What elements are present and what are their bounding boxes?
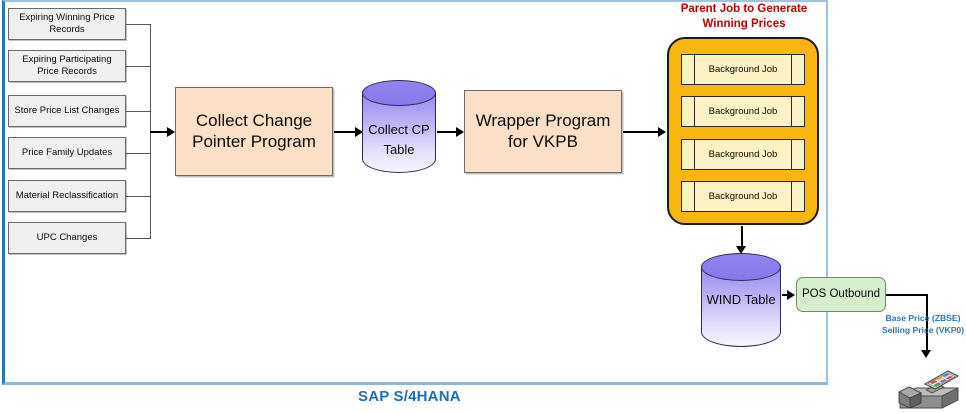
job-rail-right [791,181,792,212]
arrow-wrapper-to-parent-job [623,131,660,133]
parent-job-title-line1: Parent Job to Generate Winning Prices [664,2,824,32]
background-job-label: Background Job [695,182,791,211]
selling-price-label: Selling Price (VKP0) [879,325,966,337]
source-box-label: Store Price List Changes [14,105,119,117]
source-box-label: Price Family Updates [22,147,112,159]
process-pos-outbound[interactable]: POS Outbound [796,277,886,312]
background-job-label: Background Job [695,140,791,169]
pos-terminal-icon [896,366,962,411]
source-box-price-family-updates[interactable]: Price Family Updates [8,137,126,169]
datastore-label-line1: WIND Table [701,290,781,310]
sap-system-label: SAP S/4HANA [358,388,461,405]
datastore-collect-cp-table[interactable]: Collect CP Table [362,80,436,183]
arrow-collect-program-to-cp-table [334,131,356,133]
parent-job-title: Parent Job to Generate Winning Prices [664,2,824,32]
connector-source-2 [126,66,151,67]
source-box-label: Expiring Participating Price Records [12,54,122,77]
connector-source-6 [126,238,151,239]
datastore-label: Collect CP Table [362,120,436,160]
datastore-wind-table[interactable]: WIND Table [701,253,781,357]
arrowhead-bus-to-collect-program [167,127,175,137]
arrowhead-wrapper-to-parent-job [658,127,666,137]
source-box-expiring-winning-price-records[interactable]: Expiring Winning Price Records [8,8,126,40]
background-job-3[interactable]: Background Job [681,139,805,170]
base-price-label: Base Price (ZBSE) [879,313,966,325]
background-job-4[interactable]: Background Job [681,181,805,212]
background-job-1[interactable]: Background Job [681,54,805,85]
source-box-label: UPC Changes [37,232,98,244]
background-job-2[interactable]: Background Job [681,96,805,127]
process-label: POS Outbound [802,287,880,301]
source-box-label: Material Reclassification [16,190,118,202]
background-job-label: Background Job [695,55,791,84]
source-box-expiring-participating-price-records[interactable]: Expiring Participating Price Records [8,50,126,82]
source-box-upc-changes[interactable]: UPC Changes [8,222,126,254]
connector-source-1 [126,24,151,25]
job-rail-right [791,139,792,170]
connector-source-3 [126,111,151,112]
process-wrapper-program-vkpb[interactable]: Wrapper Program for VKPB [464,90,622,173]
price-type-labels: Base Price (ZBSE) Selling Price (VKP0) [879,313,966,336]
arrow-bus-to-collect-program [150,131,168,133]
process-collect-change-pointer-program[interactable]: Collect Change Pointer Program [175,87,333,176]
source-box-label: Expiring Winning Price Records [12,12,122,35]
connector-source-4 [126,153,151,154]
source-box-material-reclassification[interactable]: Material Reclassification [8,180,126,212]
arrowhead-pos-to-terminal [921,350,931,358]
process-label: Wrapper Program for VKPB [465,111,621,152]
cylinder-top [701,253,781,281]
arrow-parent-job-to-wind [741,226,743,248]
source-box-store-price-list-changes[interactable]: Store Price List Changes [8,95,126,127]
diagram-canvas: SAP S/4HANA Expiring Winning Price Recor… [0,0,966,413]
connector-source-5 [126,196,151,197]
connector-pos-outbound-out [886,294,928,296]
arrowhead-cp-table-to-wrapper [456,127,464,137]
arrowhead-wind-to-pos-outbound [787,290,795,300]
job-rail-right [791,96,792,127]
cylinder-top [362,80,436,106]
process-label: Collect Change Pointer Program [176,111,332,152]
background-job-label: Background Job [695,97,791,126]
job-rail-right [791,54,792,85]
